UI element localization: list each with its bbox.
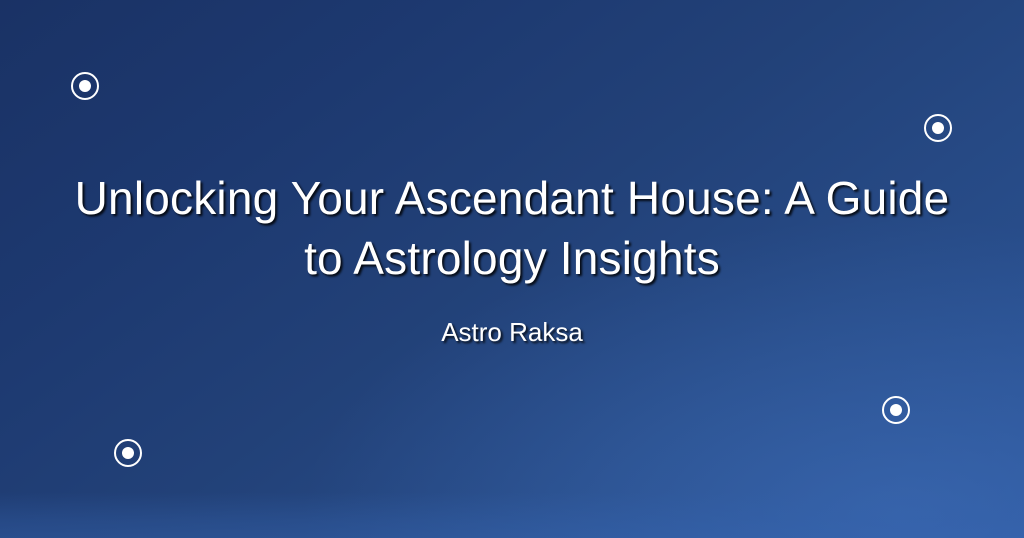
slide-content: Unlocking Your Ascendant House: A Guide …: [0, 0, 1024, 538]
title-slide: Unlocking Your Ascendant House: A Guide …: [0, 0, 1024, 538]
slide-subtitle: Astro Raksa: [441, 316, 583, 348]
slide-title: Unlocking Your Ascendant House: A Guide …: [0, 168, 1024, 288]
